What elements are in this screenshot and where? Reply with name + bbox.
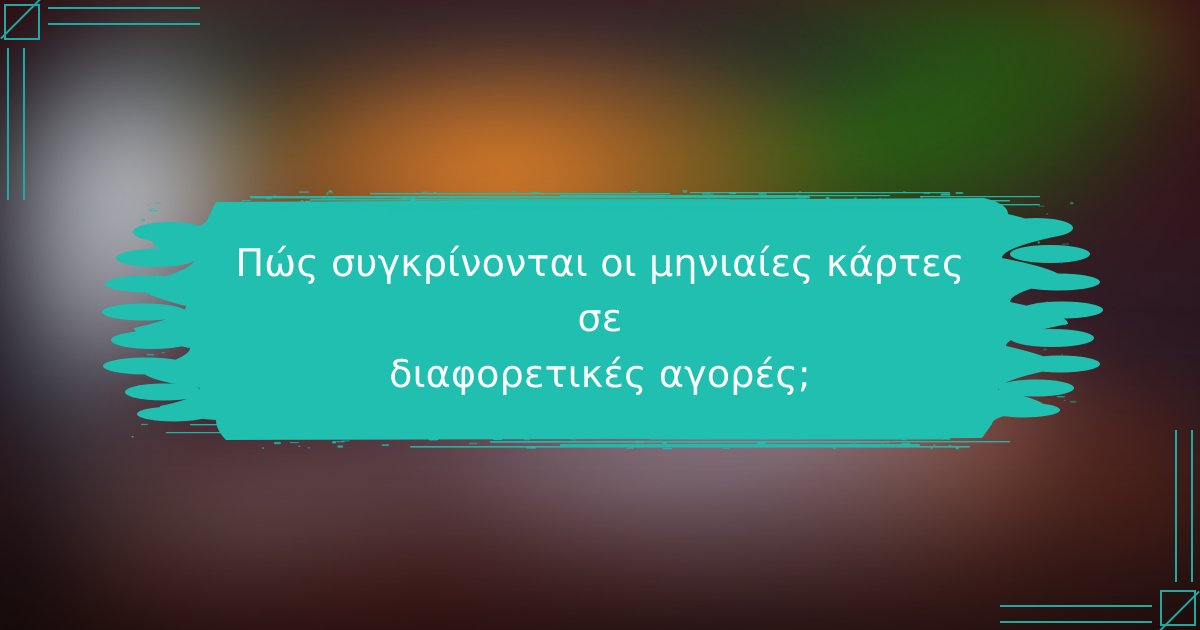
corner-line-vertical-inner: [1175, 430, 1177, 582]
corner-line-vertical-outer: [7, 48, 9, 200]
corner-frame-top-left-icon: [0, 0, 120, 120]
page-title: Πώς συγκρίνονται οι μηνιαίες κάρτες σεδι…: [226, 236, 974, 401]
corner-line-horizontal-inner: [1000, 605, 1152, 607]
corner-square-icon: [4, 4, 40, 40]
teal-brush-stroke-banner: Πώς συγκρίνονται οι μηνιαίες κάρτες σεδι…: [130, 188, 1070, 450]
corner-line-horizontal-outer: [48, 7, 200, 9]
corner-frame-bottom-right-icon: [1080, 510, 1200, 630]
corner-line-horizontal-inner: [48, 23, 200, 25]
corner-square-icon: [1160, 590, 1196, 626]
headline-container: Πώς συγκρίνονται οι μηνιαίες κάρτες σεδι…: [130, 188, 1070, 450]
corner-line-horizontal-outer: [1000, 621, 1152, 623]
social-share-card: Πώς συγκρίνονται οι μηνιαίες κάρτες σεδι…: [0, 0, 1200, 630]
corner-line-vertical-inner: [23, 48, 25, 200]
corner-line-vertical-outer: [1191, 430, 1193, 582]
